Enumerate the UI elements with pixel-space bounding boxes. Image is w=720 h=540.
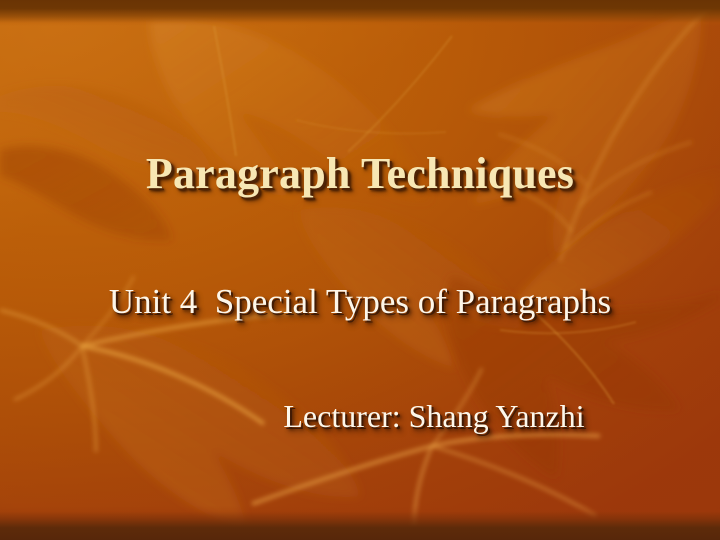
slide-subtitle: Unit 4 Special Types of Paragraphs — [0, 282, 720, 322]
slide-presenter-line: Lecturer: Shang Yanzhi — [0, 398, 720, 435]
title-slide: Paragraph Techniques Unit 4 Special Type… — [0, 0, 720, 540]
slide-title: Paragraph Techniques — [0, 148, 720, 199]
slide-text-layer: Paragraph Techniques Unit 4 Special Type… — [0, 0, 720, 540]
